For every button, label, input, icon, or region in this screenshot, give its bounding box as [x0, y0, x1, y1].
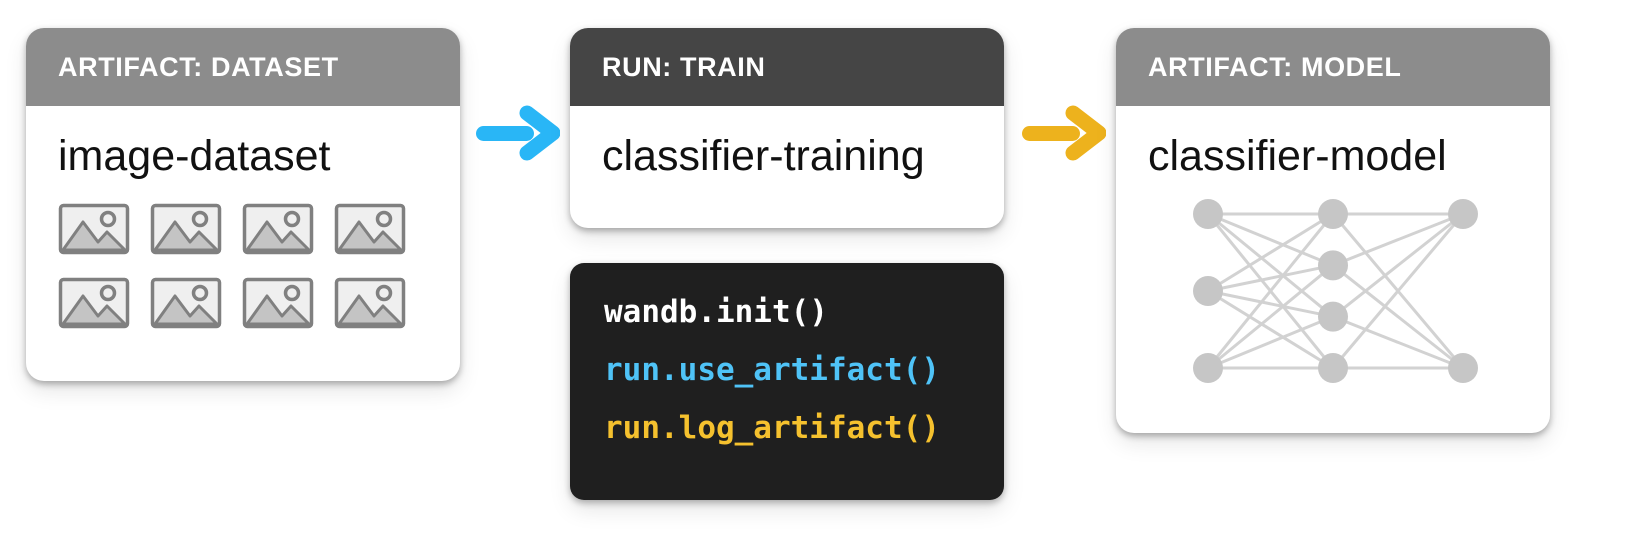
image-placeholder-icon: [242, 277, 314, 329]
dataset-to-run-arrow-icon: [472, 105, 560, 161]
code-line-wandb-init: wandb.init(): [604, 297, 1004, 328]
diagram-canvas: ARTIFACT: DATASET image-dataset RUN: TRA…: [0, 0, 1629, 537]
code-line-run-log-artifact: run.log_artifact(): [604, 413, 1004, 444]
card-body-artifact-model: classifier-model: [1116, 106, 1550, 391]
image-placeholder-icon: [334, 277, 406, 329]
neural-network-icon: [1148, 191, 1518, 391]
card-body-artifact-dataset: image-dataset: [26, 106, 460, 329]
card-header-label: RUN: TRAIN: [602, 52, 765, 83]
image-placeholder-icon: [334, 203, 406, 255]
card-header-artifact-model: ARTIFACT: MODEL: [1116, 28, 1550, 106]
card-title-image-dataset: image-dataset: [58, 132, 428, 181]
card-title-classifier-training: classifier-training: [602, 132, 972, 181]
card-header-artifact-dataset: ARTIFACT: DATASET: [26, 28, 460, 106]
image-placeholder-icon: [58, 277, 130, 329]
card-header-label: ARTIFACT: MODEL: [1148, 52, 1401, 83]
card-header-run-train: RUN: TRAIN: [570, 28, 1004, 106]
image-placeholder-icon: [58, 203, 130, 255]
code-line-run-use-artifact: run.use_artifact(): [604, 355, 1004, 386]
image-placeholder-icon: [242, 203, 314, 255]
card-title-classifier-model: classifier-model: [1148, 132, 1518, 181]
image-placeholder-icon: [150, 277, 222, 329]
image-thumbnail-grid: [58, 203, 428, 329]
card-artifact-model[interactable]: ARTIFACT: MODEL classifier-model: [1116, 28, 1550, 433]
image-placeholder-icon: [150, 203, 222, 255]
code-snippet-block: wandb.init() run.use_artifact() run.log_…: [570, 263, 1004, 500]
run-to-model-arrow-icon: [1018, 105, 1106, 161]
card-run-train[interactable]: RUN: TRAIN classifier-training: [570, 28, 1004, 228]
card-header-label: ARTIFACT: DATASET: [58, 52, 339, 83]
card-body-run-train: classifier-training: [570, 106, 1004, 181]
card-artifact-dataset[interactable]: ARTIFACT: DATASET image-dataset: [26, 28, 460, 381]
